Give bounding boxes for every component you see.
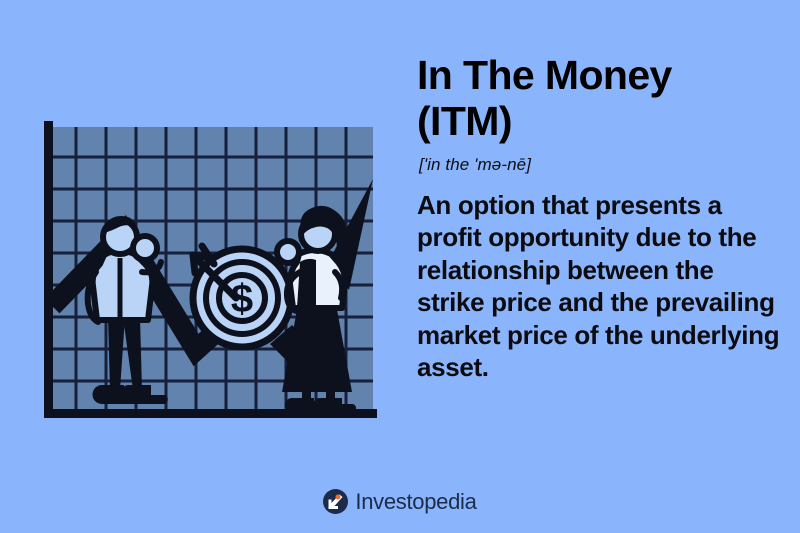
title-line-1: In The Money bbox=[417, 52, 672, 98]
brand-name: Investopedia bbox=[355, 491, 476, 513]
chart-y-axis bbox=[44, 121, 53, 418]
investopedia-logo-icon bbox=[323, 489, 348, 514]
bullseye-target: $ bbox=[193, 249, 291, 347]
illustration: $ bbox=[30, 112, 385, 424]
pronunciation: [ʹin the ʹmə-nē] bbox=[419, 155, 785, 175]
illustration-svg: $ bbox=[30, 112, 385, 424]
title-line-2: (ITM) bbox=[417, 98, 512, 144]
definition-text: An option that presents a profit opportu… bbox=[417, 189, 785, 384]
page-title: In The Money(ITM) bbox=[417, 52, 785, 145]
definition-card: $ bbox=[0, 0, 800, 533]
chart-x-axis bbox=[44, 409, 377, 418]
term-text-column: In The Money(ITM) [ʹin the ʹmə-nē] An op… bbox=[417, 52, 785, 384]
investopedia-logo: Investopedia bbox=[0, 489, 800, 514]
